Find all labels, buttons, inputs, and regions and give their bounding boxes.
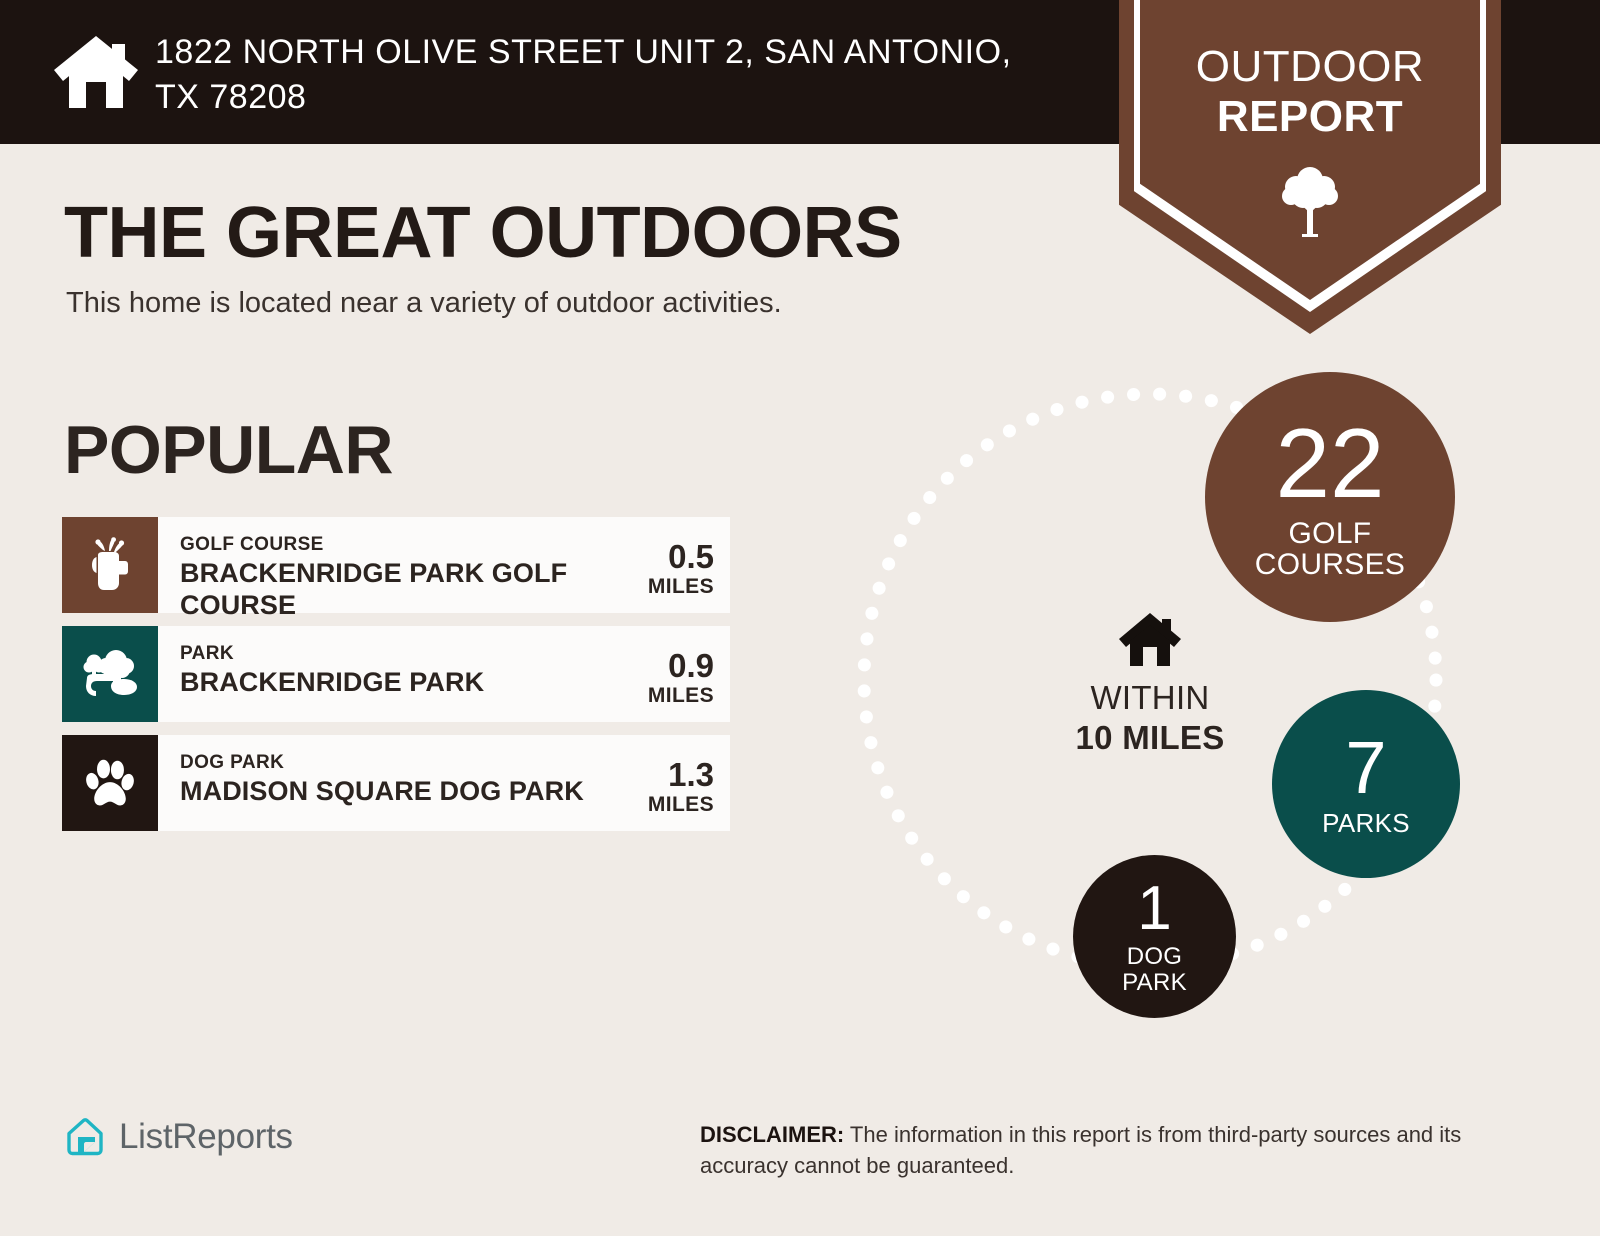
poi-distance-value: 0.9 — [608, 648, 714, 684]
poi-category: DOG PARK — [180, 751, 608, 775]
poi-distance: 0.5 MILES — [608, 517, 730, 613]
stat-count: 7 — [1345, 731, 1386, 805]
tree-icon — [1270, 160, 1350, 240]
center-label-line1: WITHIN — [1035, 678, 1265, 718]
poi-text: DOG PARK MADISON SQUARE DOG PARK — [158, 735, 608, 831]
stat-count: 1 — [1137, 878, 1171, 940]
badge-title-line1: OUTDOOR — [1140, 42, 1480, 92]
badge-title-line2: REPORT — [1140, 92, 1480, 142]
listreports-logo[interactable]: ListReports — [63, 1115, 293, 1159]
list-item[interactable]: GOLF COURSE BRACKENRIDGE PARK GOLF COURS… — [62, 517, 730, 613]
diagram-center: WITHIN 10 MILES — [1035, 610, 1265, 758]
poi-icon-tile — [62, 517, 158, 613]
outdoor-report-page: 1822 North Olive Street Unit 2, San Anto… — [0, 0, 1600, 1236]
list-item[interactable]: DOG PARK MADISON SQUARE DOG PARK 1.3 MIL… — [62, 735, 730, 831]
badge-text: OUTDOOR REPORT — [1140, 42, 1480, 142]
section-title-popular: POPULAR — [64, 411, 393, 489]
stat-count: 22 — [1275, 414, 1384, 512]
poi-distance: 1.3 MILES — [608, 735, 730, 831]
home-icon — [50, 30, 142, 110]
stat-label: DOG PARK — [1122, 944, 1187, 994]
page-title: THE GREAT OUTDOORS — [64, 192, 902, 274]
page-subtitle: This home is located near a variety of o… — [66, 287, 782, 320]
poi-distance-unit: MILES — [608, 684, 714, 708]
poi-text: PARK BRACKENRIDGE PARK — [158, 626, 608, 722]
poi-category: PARK — [180, 642, 608, 666]
stat-label-line1: GOLF — [1255, 518, 1405, 550]
poi-icon-tile — [62, 626, 158, 722]
golf-bag-icon — [85, 537, 135, 593]
poi-name: MADISON SQUARE DOG PARK — [180, 775, 608, 807]
disclaimer-label: DISCLAIMER: — [700, 1122, 844, 1147]
stat-circle-dog-park[interactable]: 1 DOG PARK — [1073, 855, 1236, 1018]
listreports-logo-text: ListReports — [119, 1117, 293, 1157]
stat-label: GOLF COURSES — [1255, 518, 1405, 581]
stat-label-line1: DOG — [1122, 944, 1187, 969]
poi-distance-value: 0.5 — [608, 539, 714, 575]
poi-category: GOLF COURSE — [180, 533, 608, 557]
paw-print-icon — [84, 756, 136, 810]
poi-distance: 0.9 MILES — [608, 626, 730, 722]
header-address: 1822 North Olive Street Unit 2, San Anto… — [155, 30, 1055, 120]
poi-name: BRACKENRIDGE PARK GOLF COURSE — [180, 557, 608, 621]
within-10-miles-diagram: 22 GOLF COURSES 7 PARKS 1 DOG PARK — [820, 350, 1520, 1070]
stat-label-line1: PARKS — [1322, 810, 1410, 837]
poi-distance-unit: MILES — [608, 793, 714, 817]
stat-circle-parks[interactable]: 7 PARKS — [1272, 690, 1460, 878]
listreports-house-icon — [63, 1115, 107, 1159]
popular-list: GOLF COURSE BRACKENRIDGE PARK GOLF COURS… — [62, 517, 730, 844]
stat-circle-golf-courses[interactable]: 22 GOLF COURSES — [1205, 372, 1455, 622]
list-item[interactable]: PARK BRACKENRIDGE PARK 0.9 MILES — [62, 626, 730, 722]
poi-distance-unit: MILES — [608, 575, 714, 599]
park-tree-icon — [81, 648, 139, 700]
poi-name: BRACKENRIDGE PARK — [180, 666, 608, 698]
home-icon — [1117, 610, 1183, 668]
stat-label: PARKS — [1322, 810, 1410, 837]
poi-text: GOLF COURSE BRACKENRIDGE PARK GOLF COURS… — [158, 517, 608, 613]
disclaimer: DISCLAIMER: The information in this repo… — [700, 1119, 1510, 1181]
center-label-line2: 10 MILES — [1035, 718, 1265, 758]
stat-label-line2: COURSES — [1255, 549, 1405, 581]
stat-label-line2: PARK — [1122, 970, 1187, 995]
poi-distance-value: 1.3 — [608, 757, 714, 793]
poi-icon-tile — [62, 735, 158, 831]
